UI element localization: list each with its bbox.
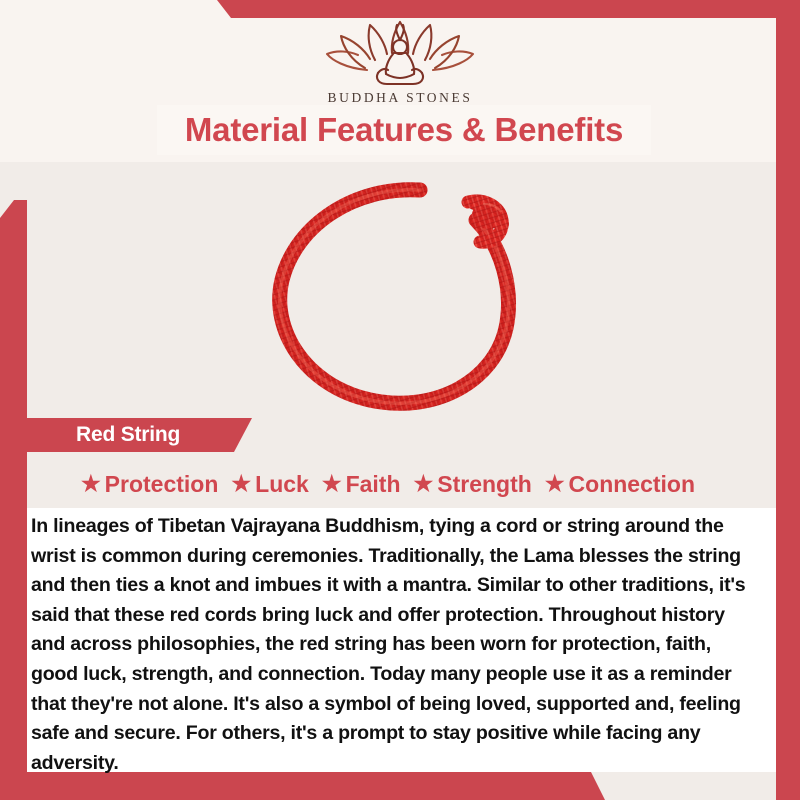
- benefits-row: ★Protection ★Luck ★Faith ★Strength ★Conn…: [27, 466, 749, 502]
- star-icon: ★: [81, 473, 101, 495]
- star-icon: ★: [231, 473, 251, 495]
- brand-logo: BUDDHA STONES: [0, 16, 800, 106]
- description-panel: In lineages of Tibetan Vajrayana Buddhis…: [27, 508, 776, 772]
- benefit-label: Connection: [569, 471, 696, 498]
- title-banner: Material Features & Benefits: [157, 105, 651, 155]
- benefit-label: Luck: [255, 471, 309, 498]
- benefit-item: ★Strength: [409, 471, 537, 498]
- benefit-label: Protection: [105, 471, 219, 498]
- description-text: In lineages of Tibetan Vajrayana Buddhis…: [31, 512, 758, 778]
- decorative-band-left: [0, 200, 27, 800]
- product-label-banner: Red String: [27, 418, 252, 452]
- star-icon: ★: [322, 473, 342, 495]
- product-image-red-string-bracelet: [252, 172, 562, 420]
- brand-name: BUDDHA STONES: [0, 90, 800, 106]
- page-title: Material Features & Benefits: [185, 111, 623, 149]
- product-info-poster: BUDDHA STONES Material Features & Benefi…: [0, 0, 800, 800]
- benefit-item: ★Protection: [76, 471, 223, 498]
- star-icon: ★: [414, 473, 434, 495]
- product-label: Red String: [76, 423, 180, 447]
- benefit-item: ★Connection: [540, 471, 700, 498]
- benefit-label: Faith: [346, 471, 401, 498]
- decorative-band-right: [776, 0, 800, 800]
- star-icon: ★: [545, 473, 565, 495]
- benefit-item: ★Faith: [317, 471, 406, 498]
- benefit-item: ★Luck: [226, 471, 313, 498]
- benefit-label: Strength: [437, 471, 532, 498]
- lotus-meditation-figure-icon: [315, 16, 485, 88]
